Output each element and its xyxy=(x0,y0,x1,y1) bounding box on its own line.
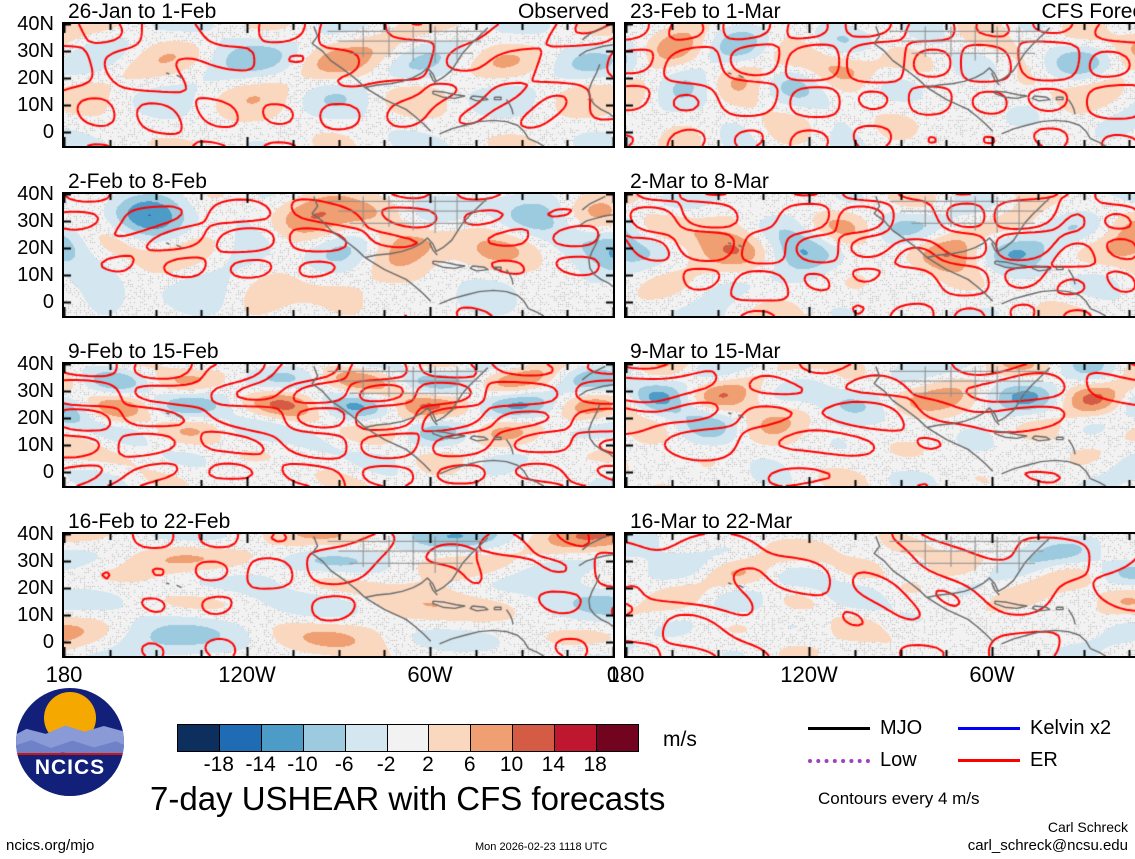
y-axis-tick-label: 40N xyxy=(0,524,54,544)
panel-title: 9-Mar to 15-Mar xyxy=(630,341,781,362)
colorbar-swatch xyxy=(555,725,597,751)
y-axis-tick-label: 40N xyxy=(0,184,54,204)
main-title: 7-day USHEAR with CFS forecasts xyxy=(150,782,665,815)
map-axes xyxy=(624,192,1135,318)
legend-line-kelvin-x2 xyxy=(958,727,1020,730)
y-axis-tick-label: 0 xyxy=(0,292,54,312)
colorbar-swatch xyxy=(178,725,220,751)
y-axis-tick-label: 0 xyxy=(0,462,54,482)
colorbar-swatch xyxy=(388,725,430,751)
author-name: Carl Schreck xyxy=(1048,820,1128,834)
logo-circle: NCICS xyxy=(16,688,124,796)
panel-column-tag: Observed xyxy=(518,1,609,22)
legend-label: Kelvin x2 xyxy=(1030,718,1111,738)
map-ticks xyxy=(64,24,613,146)
timestamp: Mon 2026-02-23 1118 UTC xyxy=(475,842,607,853)
map-axes xyxy=(624,362,1135,488)
x-axis-tick-label: 120W xyxy=(780,664,837,686)
map-ticks xyxy=(64,534,613,656)
y-axis-tick-label: 20N xyxy=(0,68,54,88)
colorbar-swatch xyxy=(262,725,304,751)
x-axis-tick-label: 180 xyxy=(608,664,645,686)
x-axis-tick-label: 60W xyxy=(407,664,452,686)
y-axis-tick-label: 10N xyxy=(0,435,54,455)
colorbar-swatch xyxy=(220,725,262,751)
panel-title: 16-Feb to 22-Feb xyxy=(68,511,230,532)
y-axis-tick-label: 10N xyxy=(0,95,54,115)
legend-label: Low xyxy=(880,750,917,770)
map-ticks xyxy=(626,364,1135,486)
panel-title: 2-Mar to 8-Mar xyxy=(630,171,769,192)
y-axis-tick-label: 30N xyxy=(0,381,54,401)
site-url: ncics.org/mjo xyxy=(6,838,94,853)
colorbar-swatch xyxy=(513,725,555,751)
map-axes xyxy=(62,532,615,658)
y-axis-tick-label: 20N xyxy=(0,238,54,258)
x-axis-tick-label: 60W xyxy=(969,664,1014,686)
y-axis-tick-label: 30N xyxy=(0,551,54,571)
colorbar-swatch xyxy=(429,725,471,751)
y-axis-tick-label: 30N xyxy=(0,41,54,61)
x-axis-tick-label: 120W xyxy=(218,664,275,686)
map-ticks xyxy=(626,194,1135,316)
map-ticks xyxy=(626,534,1135,656)
legend-line-er xyxy=(958,759,1020,762)
map-axes xyxy=(62,22,615,148)
colorbar-unit-label: m/s xyxy=(663,729,697,750)
map-axes xyxy=(62,362,615,488)
panel-title: 2-Feb to 8-Feb xyxy=(68,171,207,192)
ncics-logo: NCICS xyxy=(16,688,124,796)
colorbar-swatch xyxy=(304,725,346,751)
y-axis-tick-label: 10N xyxy=(0,605,54,625)
map-ticks xyxy=(64,194,613,316)
colorbar-tick-label: 18 xyxy=(569,754,621,775)
y-axis-tick-label: 40N xyxy=(0,354,54,374)
y-axis-tick-label: 40N xyxy=(0,14,54,34)
map-ticks xyxy=(626,24,1135,146)
legend-line-mjo xyxy=(808,727,870,730)
map-axes xyxy=(624,532,1135,658)
panel-title: 16-Mar to 22-Mar xyxy=(630,511,792,532)
legend-label: ER xyxy=(1030,750,1058,770)
logo-text: NCICS xyxy=(16,756,124,780)
map-ticks xyxy=(64,364,613,486)
panel-title: 26-Jan to 1-Feb xyxy=(68,1,216,22)
y-axis-tick-label: 0 xyxy=(0,122,54,142)
colorbar-swatch xyxy=(597,725,638,751)
map-axes xyxy=(62,192,615,318)
x-axis-tick-label: 180 xyxy=(46,664,83,686)
panel-title: 9-Feb to 15-Feb xyxy=(68,341,219,362)
y-axis-tick-label: 30N xyxy=(0,211,54,231)
y-axis-tick-label: 10N xyxy=(0,265,54,285)
legend-line-low xyxy=(808,759,870,763)
y-axis-tick-label: 20N xyxy=(0,408,54,428)
y-axis-tick-label: 20N xyxy=(0,578,54,598)
panel-column-tag: CFS Forecast xyxy=(1041,1,1135,22)
contours-note: Contours every 4 m/s xyxy=(818,790,980,807)
colorbar-swatch xyxy=(346,725,388,751)
colorbar xyxy=(177,724,639,752)
y-axis-tick-label: 0 xyxy=(0,632,54,652)
author-email: carl_schreck@ncsu.edu xyxy=(968,838,1128,853)
panel-title: 23-Feb to 1-Mar xyxy=(630,1,781,22)
legend-label: MJO xyxy=(880,718,922,738)
map-axes xyxy=(624,22,1135,148)
colorbar-swatch xyxy=(471,725,513,751)
